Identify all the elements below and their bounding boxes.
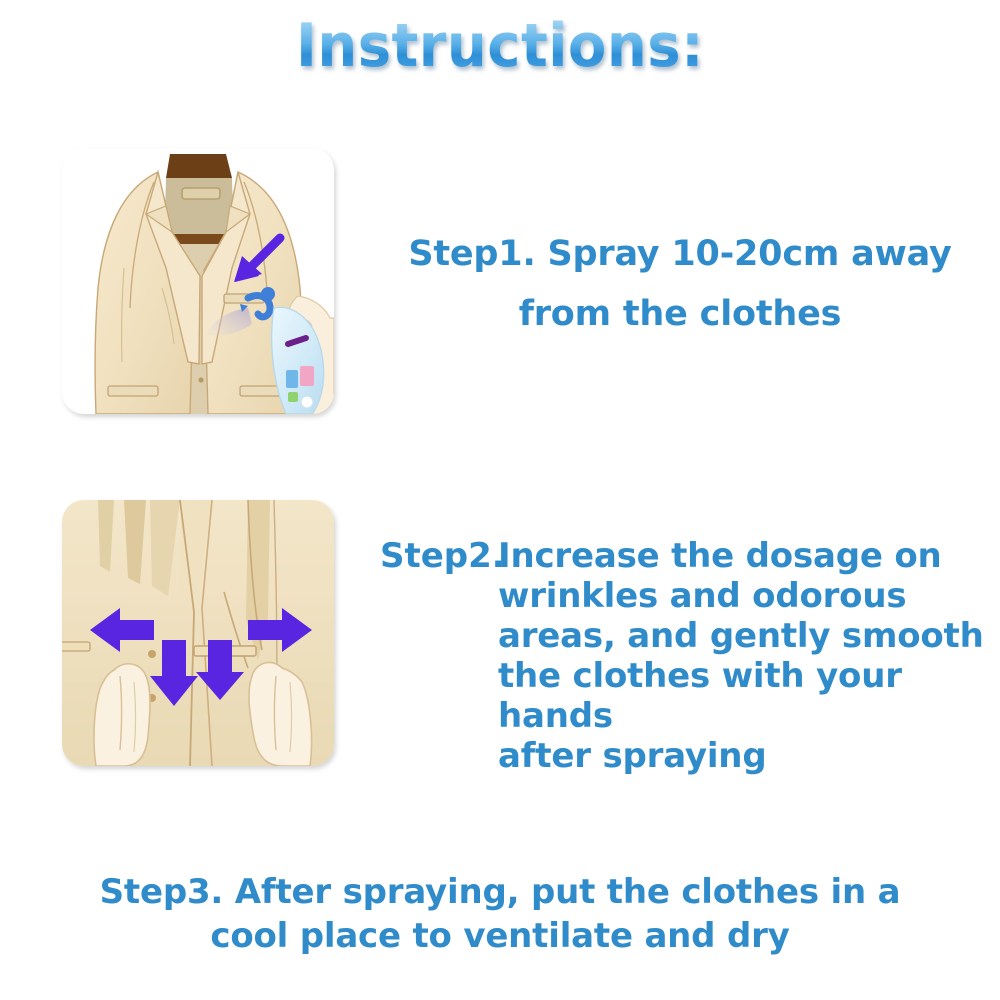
page-title: Instructions:	[296, 12, 704, 81]
step1-illustration-card	[62, 148, 334, 414]
title-container: Instructions:	[0, 14, 1000, 79]
hanger-shape	[164, 154, 235, 244]
step1-text: Step1. Spray 10-20cm away from the cloth…	[370, 224, 990, 344]
step3-text: Step3. After spraying, put the clothes i…	[80, 870, 920, 958]
step2-illustration-card	[62, 500, 334, 766]
hand-holding-bottle-icon	[272, 296, 334, 414]
hands-smoothing-jacket-icon	[62, 500, 334, 766]
step2-text: Increase the dosage on wrinkles and odor…	[380, 536, 990, 776]
suit-jacket-on-hanger-icon	[62, 148, 334, 414]
